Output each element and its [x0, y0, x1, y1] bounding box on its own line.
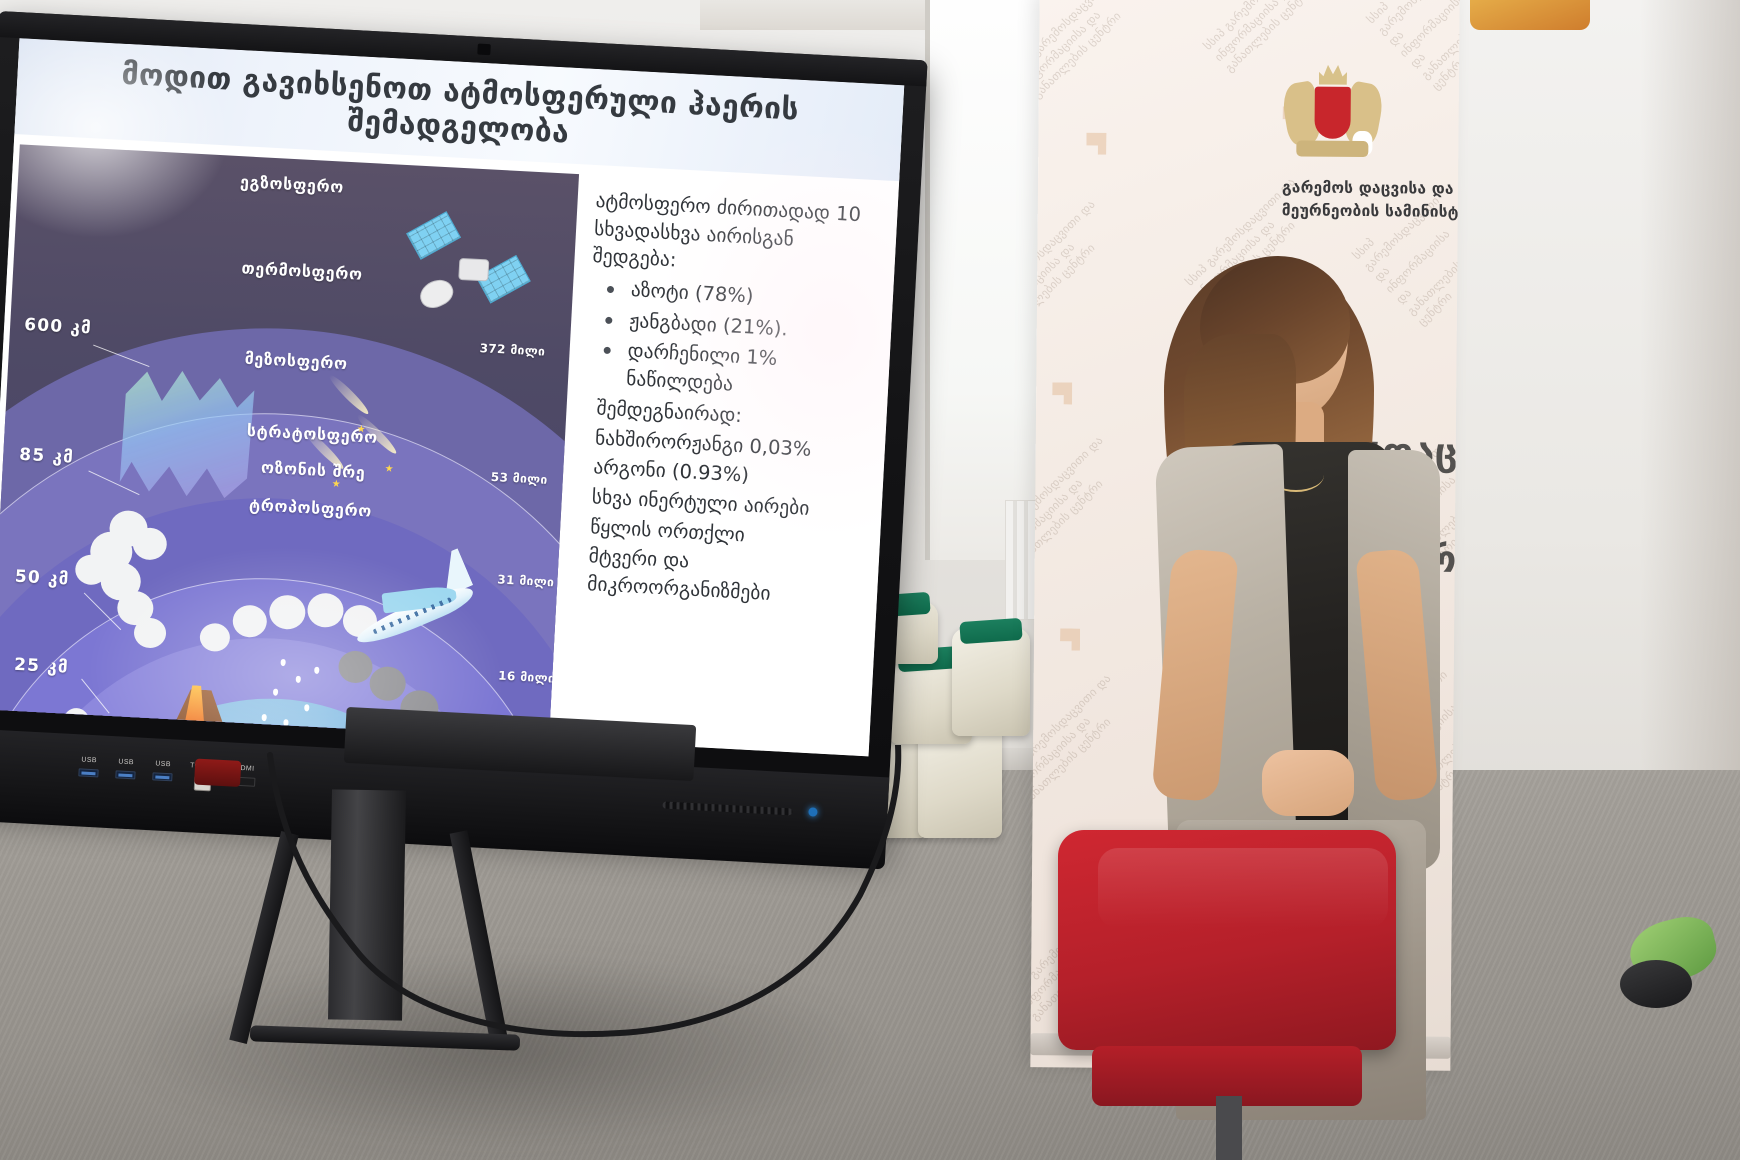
coat-of-arms-icon	[1284, 56, 1381, 167]
usb-port-3[interactable]: USB	[152, 760, 173, 781]
wall-right-shade	[1640, 0, 1740, 880]
layer-label-thermosphere: თერმოსფერო	[241, 258, 363, 283]
shelf-prop	[1470, 0, 1590, 30]
red-chair	[1040, 824, 1410, 1160]
stand-column	[328, 789, 406, 1020]
altitude-label-600km: 600 კმ	[24, 315, 93, 339]
camera-icon	[477, 44, 491, 56]
usb-icon	[152, 772, 172, 781]
altitude-label-25km: 25 კმ	[14, 655, 70, 678]
mile-label-16: 16 მილი	[498, 669, 556, 686]
atmosphere-diagram: ეგზოსფერო თერმოსფერო მეზოსფერო სტრატოსფე…	[0, 144, 579, 756]
slide-text-column: ატმოსფერო ძირითადად 10 სხვადასხვა აირისგ…	[549, 164, 899, 756]
satellite-icon	[405, 213, 531, 339]
presentation-slide: მოდით გავიხსენოთ ატმოსფერული ჰაერის შემა…	[0, 38, 904, 756]
mile-label-372: 372 მილი	[479, 341, 545, 358]
chair-post	[1216, 1096, 1242, 1160]
slide-lead-text: ატმოსფერო ძირითადად 10 სხვადასხვა აირისგ…	[592, 187, 874, 285]
altitude-label-50km: 50 კმ	[14, 567, 70, 590]
speaker-grille	[662, 801, 792, 815]
hdmi-cable-plug[interactable]	[194, 759, 241, 787]
banner-organization: გარემოს დაცვისა და სოფლის მეურნეობის სამ…	[1282, 176, 1460, 225]
mile-label-31: 31 მილი	[497, 572, 555, 589]
usb-icon	[115, 770, 135, 779]
usb-port-2[interactable]: USB	[115, 758, 136, 779]
sub-line: მტვერი და მიკროორგანიზმები	[587, 542, 856, 611]
usb-port-1[interactable]: USB	[78, 756, 99, 777]
floor-prop-black	[1620, 960, 1692, 1008]
clasped-hands	[1262, 750, 1354, 816]
slide-bullet-list: აზოტი (78%) ჟანგბადი (21%). დარჩენილი 1%…	[586, 274, 870, 405]
smartboard-screen[interactable]: მოდით გავიხსენოთ ატმოსფერული ჰაერის შემა…	[0, 38, 904, 756]
altitude-label-85km: 85 კმ	[19, 445, 75, 468]
banner-org-line-2: მეურნეობის სამინისტრო	[1282, 200, 1460, 226]
banner-watermark: სსიპ გარემოსდაცვითი და ინფორმაციისა და გ…	[1030, 0, 1146, 102]
layer-label-exosphere: ეგზოსფერო	[240, 172, 345, 197]
slide-body: ეგზოსფერო თერმოსფერო მეზოსფერო სტრატოსფე…	[0, 134, 899, 756]
slide-sub-lines: შემდეგნაირად: ნახშირორჟანგი 0,03% არგონი…	[587, 394, 863, 612]
usb-icon	[78, 768, 98, 777]
power-led-icon	[808, 807, 817, 816]
mile-label-53: 53 მილი	[490, 470, 548, 487]
banner-org-line-1: გარემოს დაცვისა და სოფლის	[1282, 176, 1460, 202]
